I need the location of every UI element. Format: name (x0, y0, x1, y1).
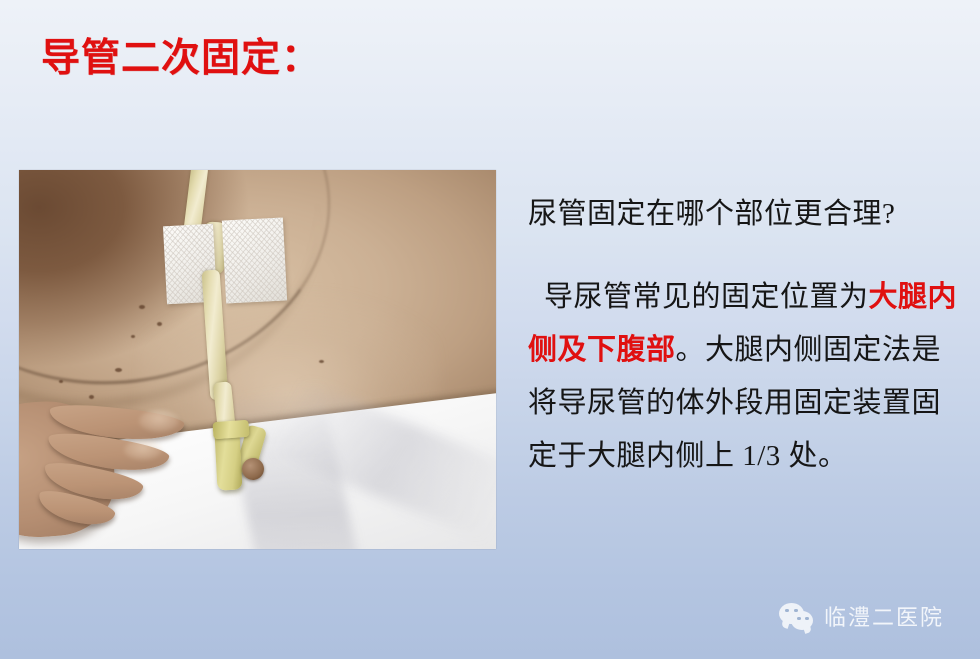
paragraph-text: 。大腿内侧固定法是 (676, 334, 942, 366)
photo-y-connector-body (214, 431, 242, 490)
photo-finger-highlight (124, 440, 162, 460)
photo-y-connector-collar (212, 420, 249, 439)
wechat-eye (805, 617, 809, 621)
photo-mole (89, 395, 94, 399)
slide-canvas: 导管二次固定： (0, 0, 980, 659)
photo-mole (157, 322, 162, 326)
photo-finger-highlight (139, 410, 179, 432)
wechat-bubble-small (791, 611, 813, 630)
photo-mole (139, 305, 145, 309)
photo-mole (319, 360, 324, 363)
wechat-eye (785, 609, 789, 613)
paragraph-line: 将导尿管的体外段用固定装置固 (528, 377, 968, 430)
paragraph-text: 将导尿管的体外段用固定装置固 (528, 387, 941, 419)
photo-mole (115, 368, 122, 372)
photo-adhesive-tape (222, 217, 287, 303)
paragraph-highlight: 大腿内 (869, 281, 958, 313)
body-paragraph: 导尿管常见的固定位置为大腿内 侧及下腹部。大腿内侧固定法是 将导尿管的体外段用固… (528, 271, 968, 483)
footer-logo: 临澧二医院 (779, 600, 944, 632)
wechat-eye (797, 617, 801, 621)
paragraph-line: 侧及下腹部。大腿内侧固定法是 (528, 324, 968, 377)
photo-mole (131, 335, 135, 338)
question-heading: 尿管固定在哪个部位更合理? (528, 196, 968, 232)
paragraph-text: 导尿管常见的固定位置为 (544, 281, 869, 313)
wechat-eye (794, 609, 798, 613)
clinical-photo (19, 170, 496, 549)
paragraph-line: 定于大腿内侧上 1/3 处。 (528, 430, 968, 483)
page-title: 导管二次固定： (41, 27, 321, 83)
text-content-block: 尿管固定在哪个部位更合理? 导尿管常见的固定位置为大腿内 侧及下腹部。大腿内侧固… (528, 196, 968, 483)
paragraph-line: 导尿管常见的固定位置为大腿内 (528, 271, 968, 324)
photo-y-connector-tip (242, 458, 264, 480)
paragraph-highlight: 侧及下腹部 (528, 334, 676, 366)
photo-mole (59, 380, 63, 383)
paragraph-text: 定于大腿内侧上 1/3 处。 (528, 440, 848, 472)
wechat-icon (779, 603, 815, 630)
footer-logo-text: 临澧二医院 (824, 600, 944, 632)
